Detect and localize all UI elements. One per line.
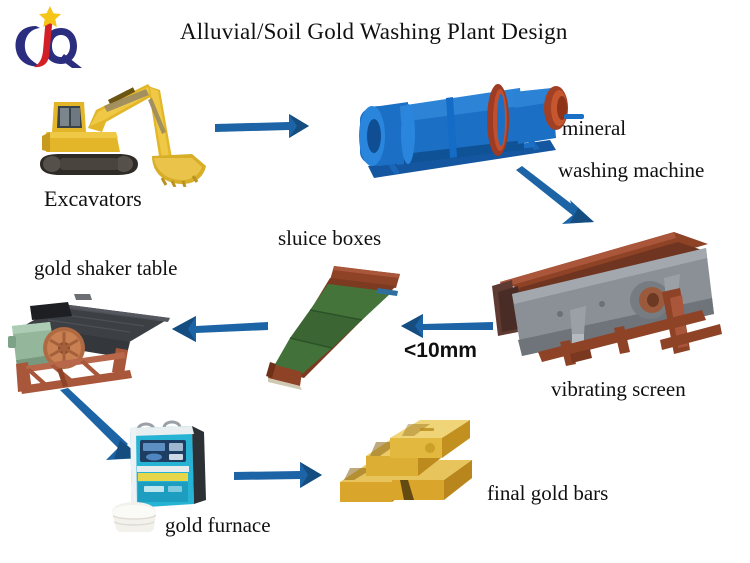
arrow-excavator-to-washer — [213, 108, 323, 146]
label-particle-size: <10mm — [404, 340, 477, 361]
arrow-furnace-to-bars — [232, 458, 332, 492]
label-gold-shaker-table: gold shaker table — [34, 258, 177, 279]
arrow-sluice-to-shaker — [166, 312, 270, 346]
arrow-washer-to-screen — [512, 166, 604, 230]
sluice-box-icon — [258, 252, 408, 392]
label-mineral: mineral — [562, 118, 626, 139]
excavator-icon — [20, 72, 210, 187]
page-title: Alluvial/Soil Gold Washing Plant Design — [180, 20, 568, 43]
company-logo — [6, 6, 84, 74]
label-final-gold-bars: final gold bars — [487, 483, 608, 504]
shaker-table-icon — [6, 282, 176, 397]
label-excavators: Excavators — [44, 188, 142, 210]
label-vibrating-screen: vibrating screen — [551, 379, 686, 400]
label-gold-furnace: gold furnace — [165, 515, 271, 536]
gold-bars-icon — [334, 418, 484, 518]
vibrating-screen-icon — [474, 228, 736, 378]
diagram-canvas: Alluvial/Soil Gold Washing Plant Design — [0, 0, 750, 563]
label-sluice-boxes: sluice boxes — [278, 228, 381, 249]
